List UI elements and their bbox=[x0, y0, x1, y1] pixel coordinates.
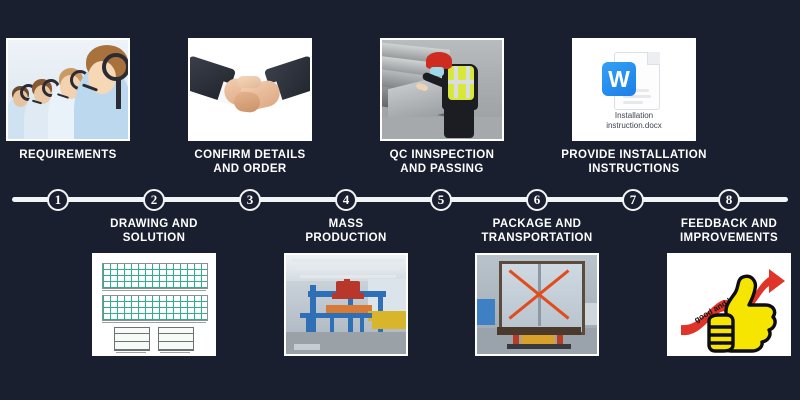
loaded-truck-photo bbox=[475, 253, 599, 356]
step-4-mass-production[interactable]: MASS PRODUCTION bbox=[251, 218, 441, 356]
step-5-qc-inspection[interactable]: QC INNSPECTION AND PASSING bbox=[347, 38, 537, 176]
cad-drawing-image bbox=[92, 253, 216, 356]
step-2-label: DRAWING AND SOLUTION bbox=[59, 218, 249, 245]
factory-production-line-photo bbox=[284, 253, 408, 356]
call-centre-agents-photo bbox=[6, 38, 130, 141]
step-7-provide-installation-instructions[interactable]: W Installation instruction.docx PROVIDE … bbox=[539, 38, 729, 176]
timeline: 1 2 3 4 5 6 7 8 bbox=[0, 189, 800, 211]
timeline-rail bbox=[12, 197, 788, 202]
timeline-node-5[interactable]: 5 bbox=[430, 189, 452, 211]
page-fold-corner-icon bbox=[647, 52, 660, 65]
step-6-label: PACKAGE AND TRANSPORTATION bbox=[442, 218, 632, 245]
timeline-node-1[interactable]: 1 bbox=[47, 189, 69, 211]
step-1-label: REQUIREMENTS bbox=[0, 149, 163, 163]
step-3-label: CONFIRM DETAILS AND ORDER bbox=[155, 149, 345, 176]
timeline-node-3[interactable]: 3 bbox=[239, 189, 261, 211]
qc-inspector-photo bbox=[380, 38, 504, 141]
timeline-node-7[interactable]: 7 bbox=[622, 189, 644, 211]
step-8-feedback-and-improvements[interactable]: FEEDBACK AND IMPROVEMENTS good and bette… bbox=[634, 218, 800, 356]
step-2-drawing-and-solution[interactable]: DRAWING AND SOLUTION bbox=[59, 218, 249, 356]
timeline-node-8[interactable]: 8 bbox=[718, 189, 740, 211]
timeline-node-4[interactable]: 4 bbox=[335, 189, 357, 211]
handshake-photo bbox=[188, 38, 312, 141]
step-5-label: QC INNSPECTION AND PASSING bbox=[347, 149, 537, 176]
thumbs-up-chart-image: good and better bbox=[667, 253, 791, 356]
document-filename-caption: Installation instruction.docx bbox=[574, 111, 694, 131]
step-1-requirements[interactable]: REQUIREMENTS bbox=[0, 38, 163, 163]
timeline-node-2[interactable]: 2 bbox=[143, 189, 165, 211]
step-4-label: MASS PRODUCTION bbox=[251, 218, 441, 245]
step-8-label: FEEDBACK AND IMPROVEMENTS bbox=[634, 218, 800, 245]
timeline-node-6[interactable]: 6 bbox=[526, 189, 548, 211]
word-app-icon: W bbox=[602, 62, 636, 96]
thumbs-up-icon bbox=[669, 255, 789, 354]
step-6-package-and-transportation[interactable]: PACKAGE AND TRANSPORTATION bbox=[442, 218, 632, 356]
step-3-confirm-details[interactable]: CONFIRM DETAILS AND ORDER bbox=[155, 38, 345, 176]
step-7-label: PROVIDE INSTALLATION INSTRUCTIONS bbox=[539, 149, 729, 176]
process-timeline-infographic: REQUIREMENTS CONFIRM DETAILS AND ORDER bbox=[0, 0, 800, 400]
word-document-icon: W Installation instruction.docx bbox=[572, 38, 696, 141]
